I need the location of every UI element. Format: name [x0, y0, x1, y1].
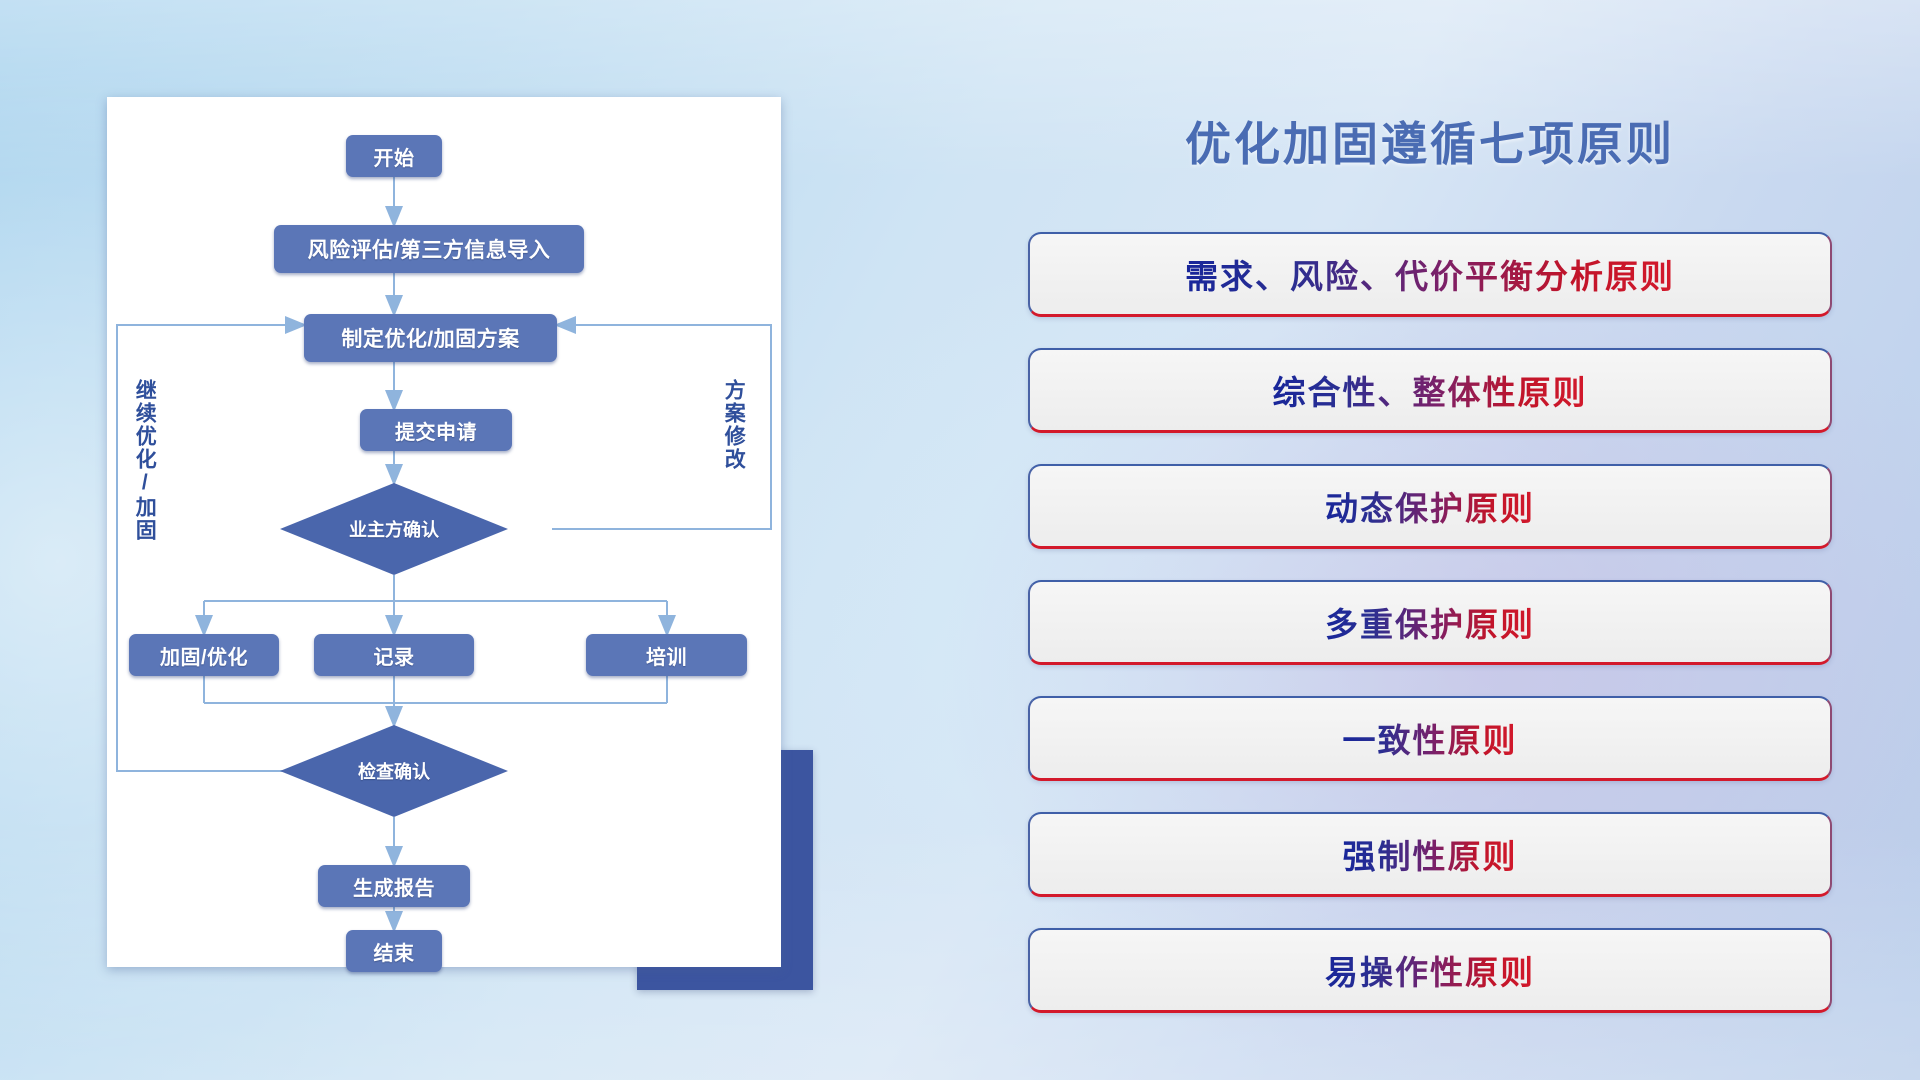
flow-node-label: 结束 [374, 937, 415, 966]
flow-node-label: 培训 [646, 641, 687, 670]
flowchart-card: 开始 风险评估/第三方信息导入 制定优化/加固方案 提交申请 业主方确认 加固/… [107, 97, 781, 967]
flow-node-start[interactable]: 开始 [346, 135, 442, 177]
principle-item[interactable]: 需求、风险、代价平衡分析原则 [1028, 232, 1832, 317]
flow-node-inspection-confirm[interactable] [280, 725, 508, 817]
edge-label-continue-optimize: 继续优化/加固 [133, 379, 155, 542]
principle-item[interactable]: 强制性原则 [1028, 812, 1832, 897]
flow-node-label: 风险评估/第三方信息导入 [308, 234, 551, 264]
flow-node-label: 制定优化/加固方案 [341, 323, 519, 353]
principle-label: 易操作性原则 [1325, 946, 1535, 994]
flow-node-owner-confirm[interactable] [280, 483, 508, 575]
flow-node-label: 提交申请 [395, 416, 477, 445]
flow-node-reinforce[interactable]: 加固/优化 [129, 634, 279, 676]
principle-label: 一致性原则 [1343, 714, 1518, 762]
principle-item[interactable]: 多重保护原则 [1028, 580, 1832, 665]
flow-node-risk-assessment[interactable]: 风险评估/第三方信息导入 [274, 225, 584, 273]
principle-label: 动态保护原则 [1325, 482, 1535, 530]
flow-node-plan[interactable]: 制定优化/加固方案 [304, 314, 557, 362]
diamond-shape [280, 483, 508, 575]
flow-node-label: 加固/优化 [160, 641, 248, 670]
principle-label: 强制性原则 [1343, 830, 1518, 878]
diamond-shape [280, 725, 508, 817]
flow-node-label: 开始 [374, 142, 415, 171]
principle-label: 需求、风险、代价平衡分析原则 [1185, 250, 1675, 298]
principle-label: 综合性、整体性原则 [1273, 366, 1588, 414]
flow-node-generate-report[interactable]: 生成报告 [318, 865, 470, 907]
edge-label-plan-revision: 方案修改 [722, 379, 744, 471]
flow-node-record[interactable]: 记录 [314, 634, 474, 676]
flow-node-end[interactable]: 结束 [346, 930, 442, 972]
principle-item[interactable]: 动态保护原则 [1028, 464, 1832, 549]
principle-list: 需求、风险、代价平衡分析原则 综合性、整体性原则 动态保护原则 多重保护原则 一… [1028, 232, 1832, 1044]
principle-item[interactable]: 综合性、整体性原则 [1028, 348, 1832, 433]
principles-panel: 优化加固遵循七项原则 需求、风险、代价平衡分析原则 综合性、整体性原则 动态保护… [1020, 80, 1840, 1010]
flow-node-submit-application[interactable]: 提交申请 [360, 409, 512, 451]
flow-node-label: 生成报告 [353, 872, 435, 901]
flow-node-training[interactable]: 培训 [586, 634, 747, 676]
principle-item[interactable]: 易操作性原则 [1028, 928, 1832, 1013]
flow-node-label: 记录 [374, 641, 415, 670]
principle-label: 多重保护原则 [1325, 598, 1535, 646]
panel-title: 优化加固遵循七项原则 [1020, 108, 1840, 174]
principle-item[interactable]: 一致性原则 [1028, 696, 1832, 781]
